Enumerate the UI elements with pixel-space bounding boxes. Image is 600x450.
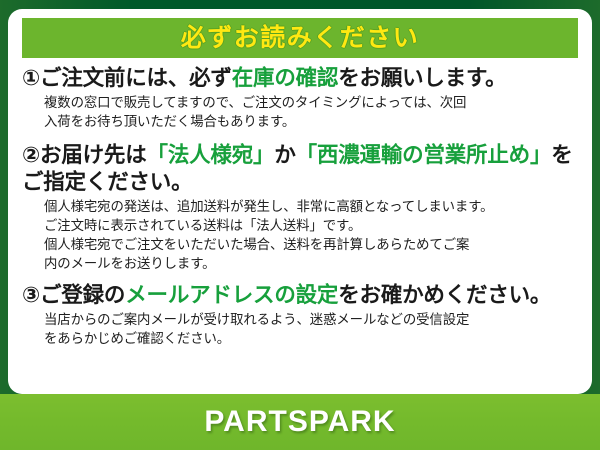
notice-item-3-heading-part-2: をお確かめください。 — [338, 283, 551, 307]
notice-items: ①ご注文前には、必ず在庫の確認をお願いします。 複数の窓口で販売してますので、ご… — [22, 58, 578, 348]
notice-item-2-body-line-1: ご注文時に表示されている送料は「法人送料」です。 — [44, 216, 578, 235]
notice-item-3-heading-highlight: メールアドレスの設定 — [125, 283, 338, 307]
notice-item-1-body-line-1: 入荷をお待ち頂いただく場合もあります。 — [44, 112, 578, 131]
notice-item-3-body: 当店からのご案内メールが受け取れるよう、迷惑メールなどの受信設定 をあらかじめご… — [22, 308, 578, 348]
notice-item-1: ①ご注文前には、必ず在庫の確認をお願いします。 複数の窓口で販売してますので、ご… — [22, 65, 578, 131]
notice-item-3: ③ご登録のメールアドレスの設定をお確かめください。 当店からのご案内メールが受け… — [22, 282, 578, 348]
notice-item-2-body-line-0: 個人様宅宛の発送は、追加送料が発生し、非常に高額となってしまいます。 — [44, 197, 578, 216]
notice-item-1-heading: ①ご注文前には、必ず在庫の確認をお願いします。 — [22, 65, 578, 91]
notice-header-band: 必ずお読みください — [22, 18, 578, 58]
notice-item-2-heading-part-2: か — [274, 143, 295, 167]
notice-item-3-body-line-1: をあらかじめご確認ください。 — [44, 329, 578, 348]
notice-item-1-heading-highlight: 在庫の確認 — [232, 66, 339, 90]
notice-item-3-heading: ③ご登録のメールアドレスの設定をお確かめください。 — [22, 282, 578, 308]
notice-item-2-marker: ② — [22, 143, 40, 167]
page-title: 必ずお読みください — [181, 26, 420, 51]
notice-item-3-body-line-0: 当店からのご案内メールが受け取れるよう、迷惑メールなどの受信設定 — [44, 310, 578, 329]
notice-panel: 必ずお読みください ①ご注文前には、必ず在庫の確認をお願いします。 複数の窓口で… — [8, 9, 592, 394]
footer-band: PARTSPARK — [0, 394, 600, 450]
notice-item-1-marker: ① — [22, 66, 40, 90]
notice-item-3-heading-part-0: ご登録の — [40, 283, 125, 307]
notice-item-2-heading-highlight-2: 「西濃運輸の営業所止め」 — [296, 143, 552, 167]
notice-item-2-body-line-2: 個人様宅宛でご注文をいただいた場合、送料を再計算しあらためてご案 — [44, 235, 578, 254]
notice-item-1-heading-part-2: をお願いします。 — [338, 66, 506, 90]
notice-item-2-body: 個人様宅宛の発送は、追加送料が発生し、非常に高額となってしまいます。 ご注文時に… — [22, 195, 578, 273]
notice-card: 必ずお読みください ①ご注文前には、必ず在庫の確認をお願いします。 複数の窓口で… — [0, 0, 600, 450]
notice-item-2-heading-part-0: お届け先は — [40, 143, 147, 167]
notice-item-2: ②お届け先は「法人様宛」か「西濃運輸の営業所止め」をご指定ください。 個人様宅宛… — [22, 142, 578, 273]
notice-item-1-heading-part-0: ご注文前には、必ず — [40, 66, 232, 90]
notice-item-1-body: 複数の窓口で販売してますので、ご注文のタイミングによっては、次回 入荷をお待ち頂… — [22, 91, 578, 131]
notice-item-2-heading-highlight-1: 「法人様宛」 — [147, 143, 275, 167]
notice-item-2-heading: ②お届け先は「法人様宛」か「西濃運輸の営業所止め」をご指定ください。 — [22, 142, 578, 194]
brand-logo-text: PARTSPARK — [204, 407, 395, 437]
notice-item-3-marker: ③ — [22, 283, 40, 307]
notice-item-1-body-line-0: 複数の窓口で販売してますので、ご注文のタイミングによっては、次回 — [44, 93, 578, 112]
notice-item-2-body-line-3: 内のメールをお送りします。 — [44, 254, 578, 273]
